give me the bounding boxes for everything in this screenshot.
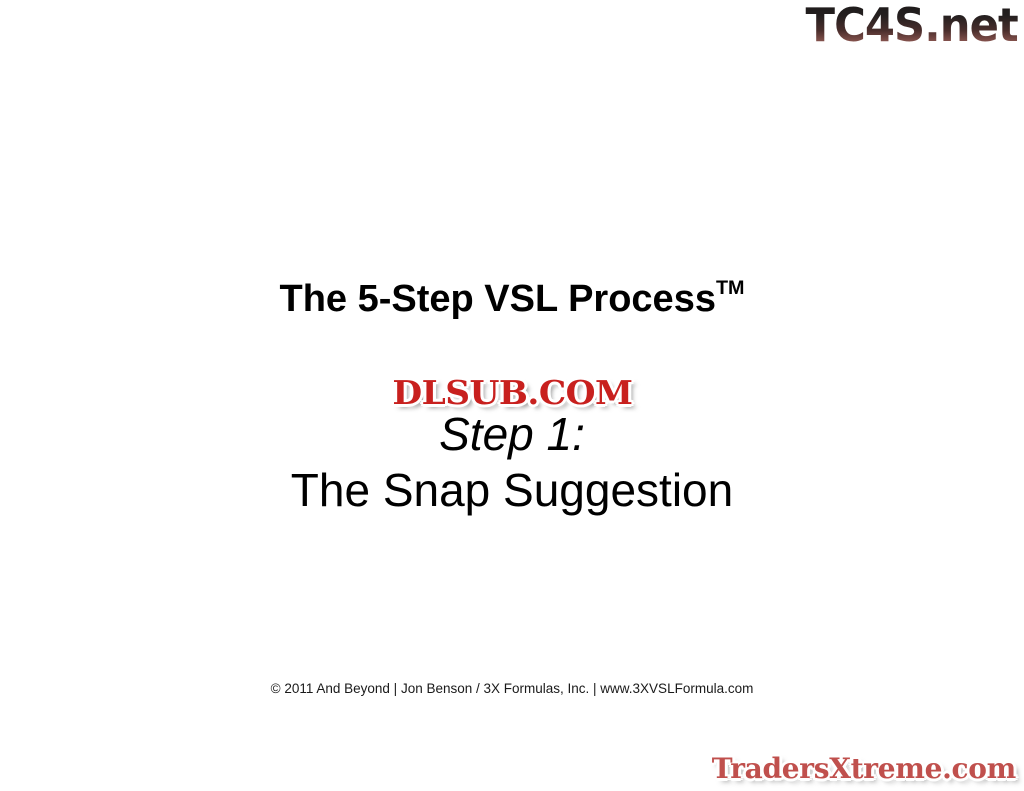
presentation-slide: TC4S.net The 5-Step VSL ProcessTM Step 1… bbox=[0, 0, 1024, 791]
tradersxtreme-watermark-text: TradersXtreme.com bbox=[712, 752, 1016, 785]
tc4s-site-logo: TC4S.net bbox=[806, 2, 1018, 48]
copyright-notice: © 2011 And Beyond | Jon Benson / 3X Form… bbox=[0, 681, 1024, 696]
trademark-symbol: TM bbox=[716, 277, 745, 299]
subtitle-step-label: Step 1: bbox=[0, 406, 1024, 462]
slide-title-text: The 5-Step VSL Process bbox=[280, 278, 716, 320]
slide-title: The 5-Step VSL ProcessTM bbox=[0, 278, 1024, 321]
subtitle-step-name: The Snap Suggestion bbox=[0, 462, 1024, 518]
tradersxtreme-watermark: TradersXtreme.com bbox=[712, 752, 1016, 785]
slide-subtitle: Step 1: The Snap Suggestion bbox=[0, 406, 1024, 518]
